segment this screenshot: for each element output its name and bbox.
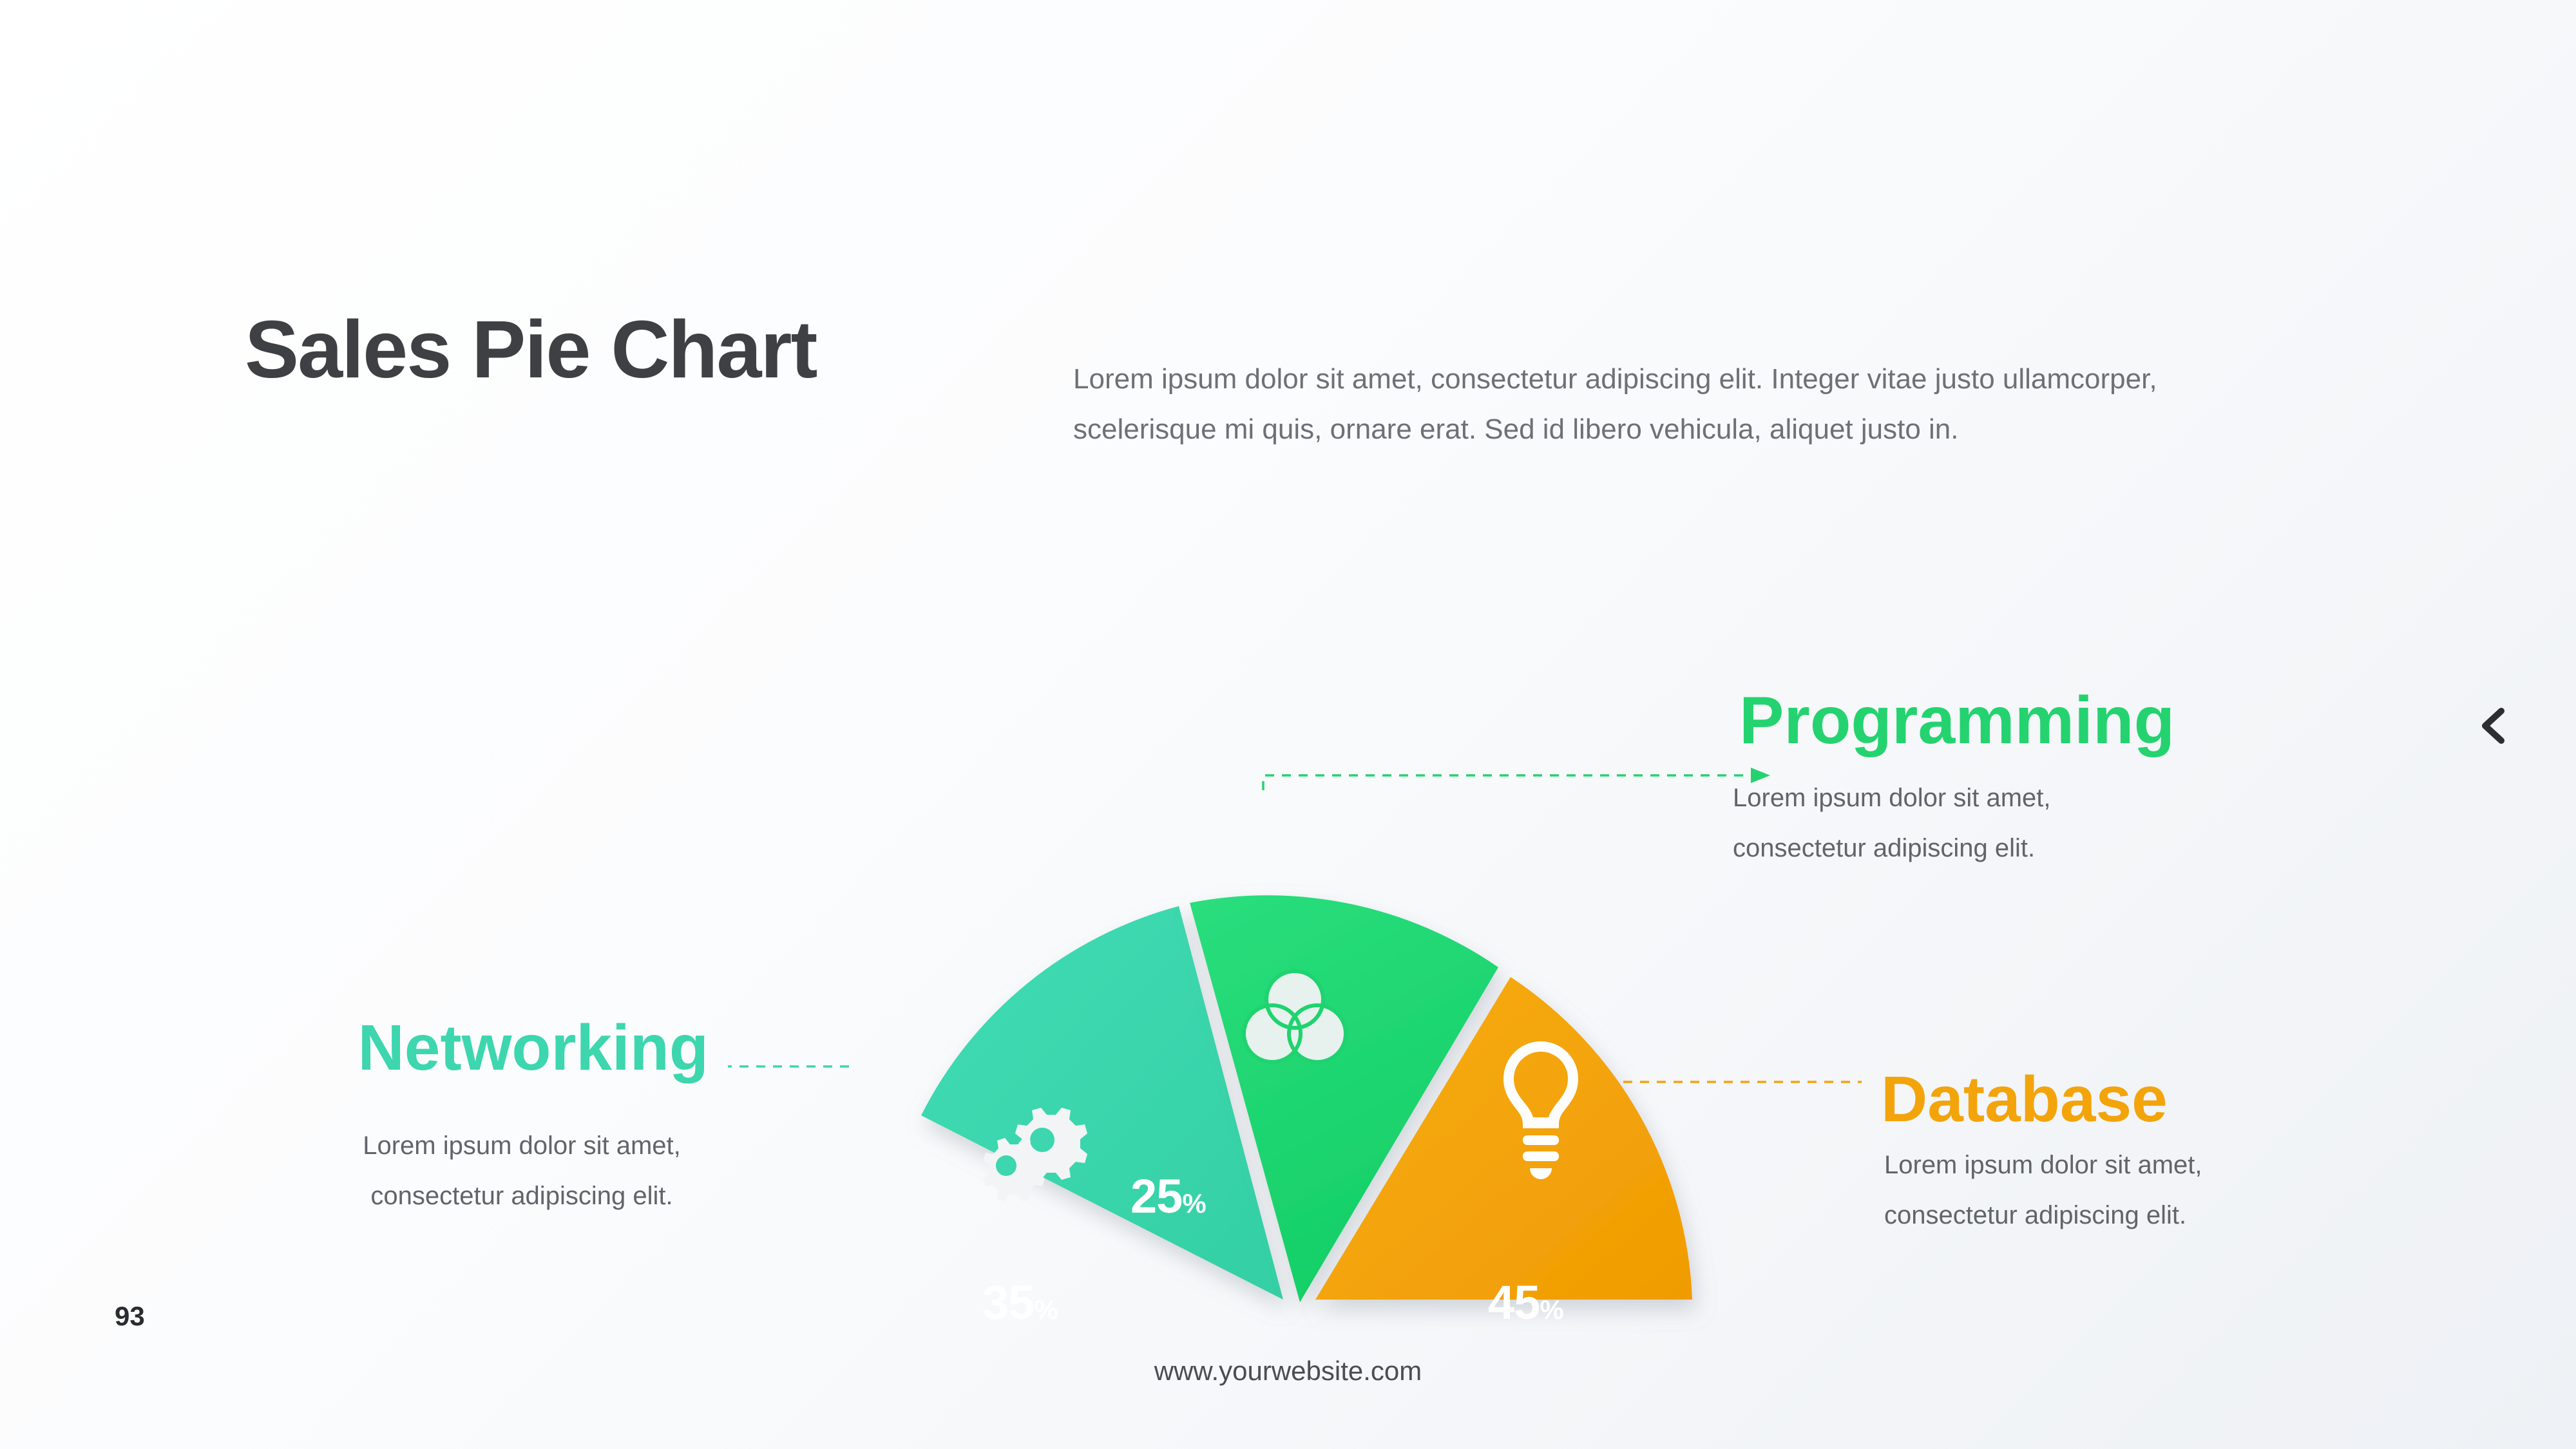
page-title: Sales Pie Chart — [245, 303, 816, 396]
category-label-networking[interactable]: Networking — [335, 1018, 709, 1079]
page-subtitle: Lorem ipsum dolor sit amet, consectetur … — [1073, 354, 2207, 455]
category-desc-networking: Lorem ipsum dolor sit amet, consectetur … — [335, 1121, 709, 1221]
connector-programming — [1263, 775, 1752, 790]
category-desc-programming: Lorem ipsum dolor sit amet, consectetur … — [1733, 773, 2119, 873]
pie-chart: 35% 25% 45% — [728, 760, 1862, 1352]
page-number: 93 — [115, 1301, 145, 1332]
pie-chart-svg — [728, 760, 1862, 1352]
category-label-programming[interactable]: Programming — [1739, 689, 2074, 753]
category-label-database[interactable]: Database — [1881, 1069, 2332, 1130]
website-url: www.yourwebsite.com — [0, 1356, 2576, 1387]
chevron-left-icon[interactable] — [2472, 703, 2517, 748]
category-desc-database: Lorem ipsum dolor sit amet, consectetur … — [1884, 1140, 2284, 1240]
